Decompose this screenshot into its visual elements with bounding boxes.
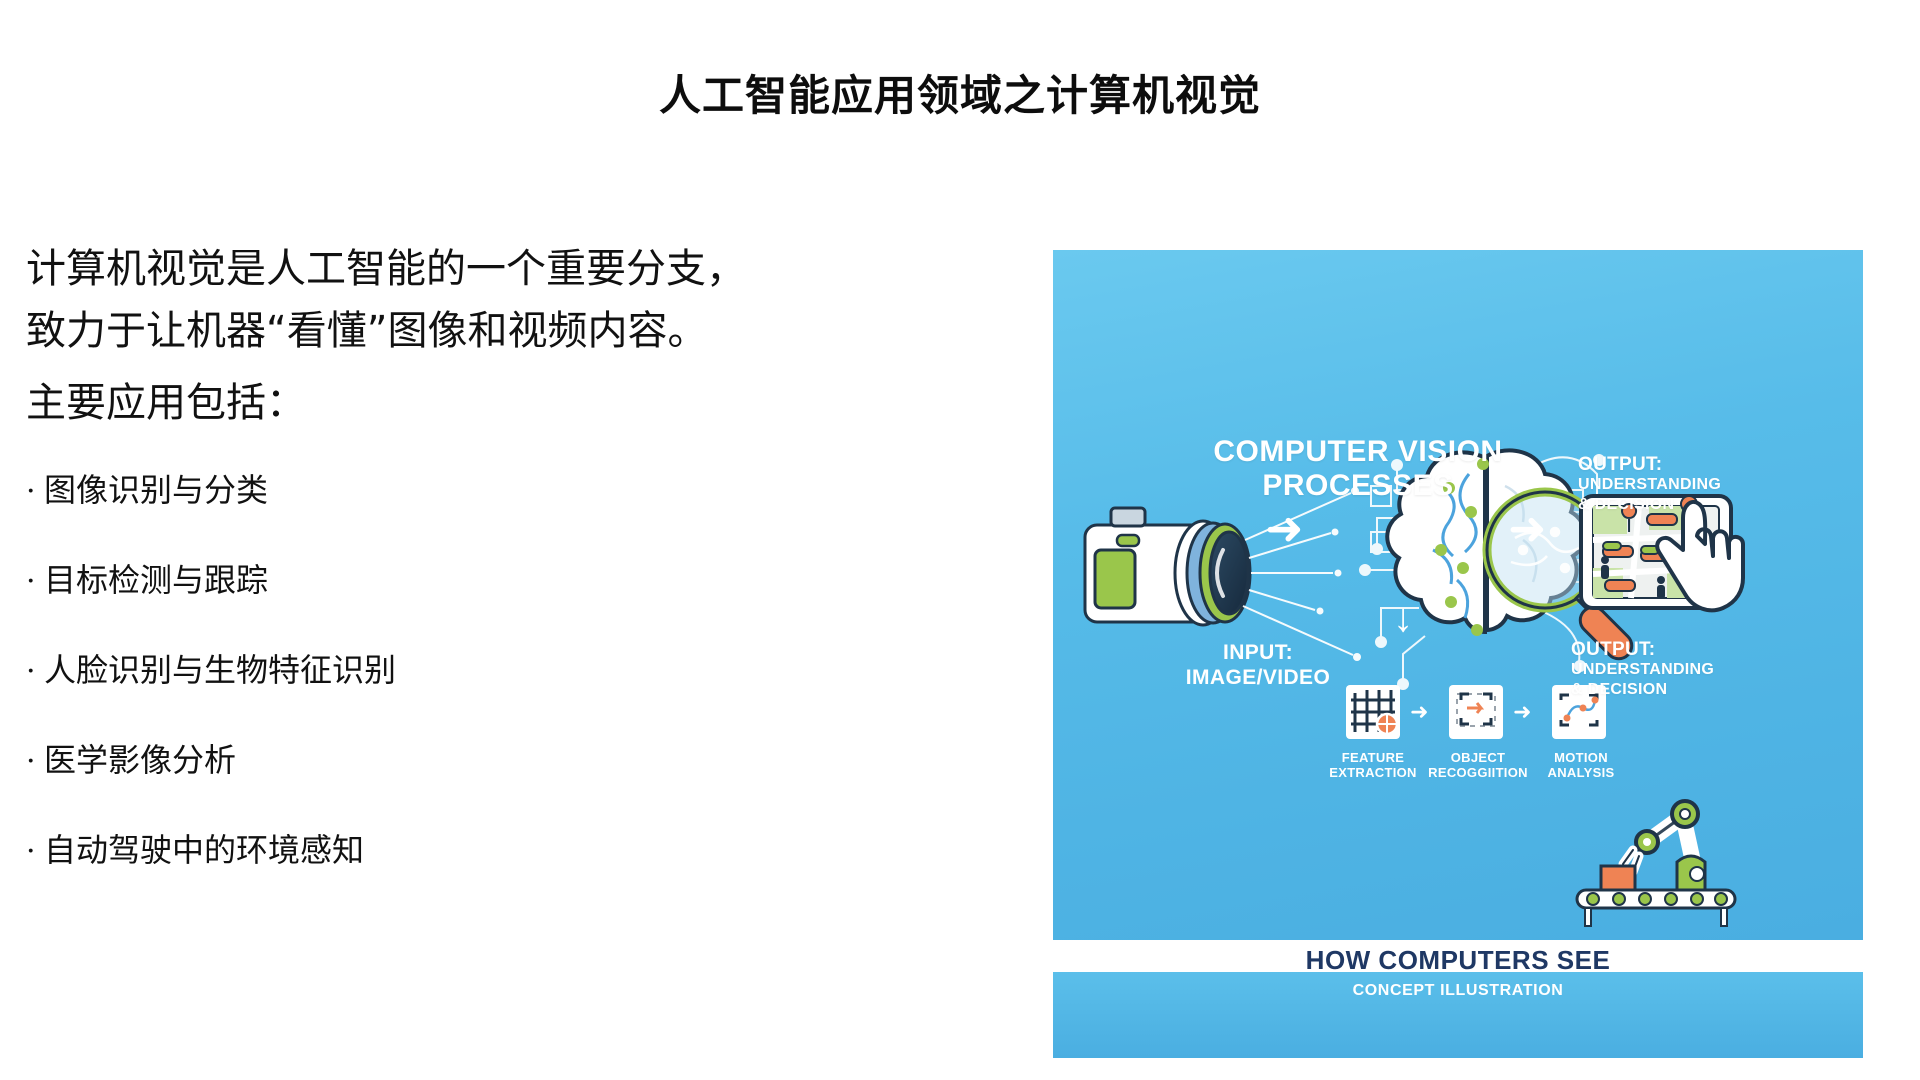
computer-vision-infographic: COMPUTER VISION PROCESSES ➜ ➜ ↓ OUTPUT: … — [1053, 250, 1863, 940]
list-item: · 自动驾驶中的环境感知 — [26, 830, 906, 872]
list-item-label: 目标检测与跟踪 — [44, 560, 268, 600]
output-label-top-line1: OUTPUT: — [1578, 455, 1721, 475]
process-label-feature-extraction-line2: EXTRACTION — [1329, 765, 1417, 780]
robot-arm-icon — [1577, 801, 1735, 926]
object-recognition-icon — [1449, 685, 1503, 739]
input-label-line1: INPUT: — [1223, 641, 1293, 664]
output-label-bottom: OUTPUT: UNDERSTANDING & DECISION — [1571, 640, 1714, 700]
arrow-right-icon: ➜ — [1513, 702, 1531, 722]
arrow-right-icon: ➜ — [1410, 702, 1428, 722]
output-label-bottom-line2: UNDERSTANDING — [1571, 660, 1714, 680]
feature-extraction-icon — [1346, 685, 1400, 739]
input-label: INPUT: IMAGE/VIDEO — [1153, 640, 1363, 690]
list-item-label: 人脸识别与生物特征识别 — [44, 650, 396, 690]
infographic-illustration — [1053, 250, 1863, 940]
process-label-object-recognition-line1: OBJECT — [1451, 750, 1506, 765]
list-item: · 医学影像分析 — [26, 740, 906, 782]
paragraph-line-2: 致力于让机器“看懂”图像和视频内容。 — [26, 300, 906, 362]
list-item-label: 医学影像分析 — [44, 740, 236, 780]
page-title: 人工智能应用领域之计算机视觉 — [0, 62, 1920, 123]
output-label-bottom-line3: & DECISION — [1571, 680, 1714, 700]
hand-pointer-icon — [1657, 502, 1743, 610]
content-text-column: 计算机视觉是人工智能的一个重要分支， 致力于让机器“看懂”图像和视频内容。 主要… — [26, 238, 906, 920]
list-item: · 目标检测与跟踪 — [26, 560, 906, 602]
arrow-right-icon: ➜ — [1265, 505, 1304, 551]
output-label-bottom-line1: OUTPUT: — [1571, 640, 1714, 660]
bullet-dot-icon: · — [26, 652, 44, 692]
bullet-dot-icon: · — [26, 742, 44, 782]
output-label-top-line3: & DECISION — [1578, 495, 1721, 515]
list-item: · 人脸识别与生物特征识别 — [26, 650, 906, 692]
process-label-object-recognition-line2: RECOGGIITION — [1428, 765, 1528, 780]
bullet-dot-icon: · — [26, 472, 44, 512]
process-label-motion-analysis: MOTION ANALYSIS — [1516, 750, 1646, 780]
infographic-heading: COMPUTER VISION PROCESSES — [1193, 435, 1523, 503]
camera-icon — [1085, 508, 1250, 625]
process-label-motion-analysis-line1: MOTION — [1554, 750, 1608, 765]
list-item-label: 图像识别与分类 — [44, 470, 268, 510]
output-label-top-line2: UNDERSTANDING — [1578, 475, 1721, 495]
bullet-dot-icon: · — [26, 832, 44, 872]
list-item: · 图像识别与分类 — [26, 470, 906, 512]
arrow-right-icon: ➜ — [1508, 505, 1547, 551]
map-person-icons — [1601, 542, 1677, 599]
infographic-subcaption: CONCEPT ILLUSTRATION — [1053, 982, 1863, 1000]
bullet-dot-icon: · — [26, 562, 44, 602]
output-label-top: OUTPUT: UNDERSTANDING & DECISION — [1578, 455, 1721, 515]
list-item-label: 自动驾驶中的环境感知 — [44, 830, 364, 870]
arrow-down-icon: ↓ — [1393, 595, 1413, 641]
process-label-motion-analysis-line2: ANALYSIS — [1548, 765, 1615, 780]
input-label-line2: IMAGE/VIDEO — [1186, 666, 1330, 689]
paragraph-line-1: 计算机视觉是人工智能的一个重要分支， — [26, 238, 906, 300]
application-bullet-list: · 图像识别与分类 · 目标检测与跟踪 · 人脸识别与生物特征识别 · 医学影像… — [26, 470, 906, 872]
map-car-icons — [1603, 514, 1677, 591]
paragraph-line-3: 主要应用包括： — [26, 372, 906, 434]
process-label-feature-extraction-line1: FEATURE — [1342, 750, 1405, 765]
